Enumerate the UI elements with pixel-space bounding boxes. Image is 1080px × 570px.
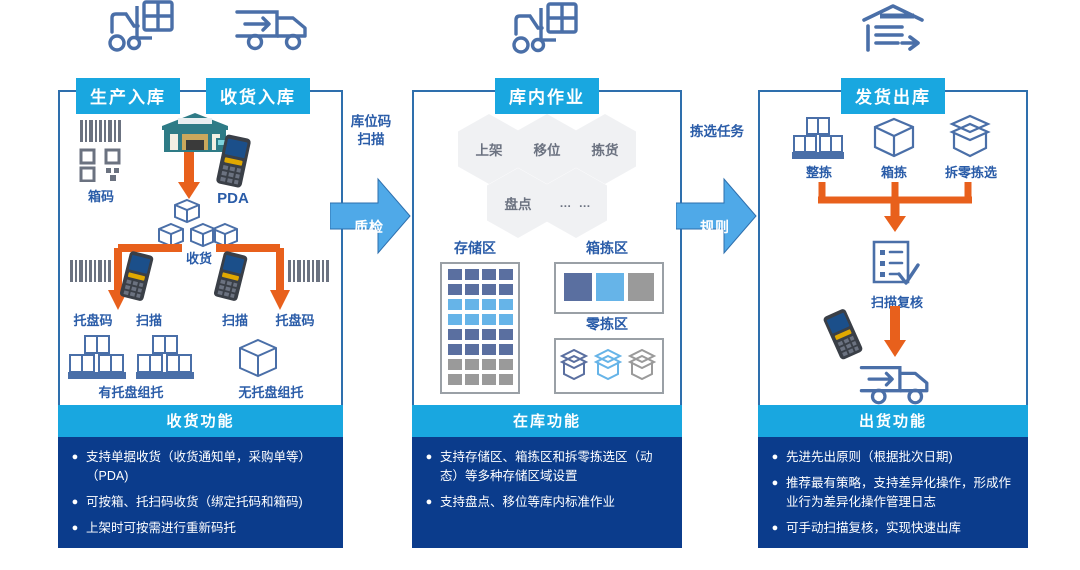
bullet-text: 先进先出原则（根据批次日期) <box>786 448 1020 467</box>
list-item: ● 支持盘点、移位等库内标准作业 <box>418 493 674 512</box>
piece-pick-icon <box>944 114 996 165</box>
inhouse-bullets: ● 支持存储区、箱拣区和拆零拣选区（动态）等多种存储区域设置 ● 支持盘点、移位… <box>412 437 682 548</box>
label-pallet-code-right: 托盘码 <box>264 310 326 329</box>
box-code-symbol <box>78 120 124 187</box>
tab-inhouse-operations[interactable]: 库内作业 <box>495 78 599 114</box>
pallet-stack-icon-1 <box>68 334 126 385</box>
connector-1-label: 库位码 扫描 <box>351 113 392 149</box>
delivery-truck-icon <box>233 2 315 59</box>
case-pick-icon <box>870 116 918 165</box>
inbound-footer-title: 收货功能 <box>58 405 343 437</box>
panel-outbound: 发货出库 <box>758 60 1028 547</box>
inhouse-content: 上架 移位 拣货 盘点 … … 存储区 箱拣区 零拣区 <box>412 90 682 405</box>
panel-inhouse: 库内作业 上架 移位 拣货 盘点 … … 存储区 箱拣区 零拣区 <box>412 60 682 547</box>
label-scan-left: 扫描 <box>124 310 174 329</box>
arrow-to-shipping <box>882 306 908 363</box>
inbound-bullets: ● 支持单据收货（收货通知单，采购单等）（PDA) ● 可按箱、托扫码收货（绑定… <box>58 437 343 548</box>
label-without-pallet: 无托盘组托 <box>216 382 326 401</box>
piece-pick-zone <box>554 338 664 394</box>
outbound-footer: 出货功能 ● 先进先出原则（根据批次日期) ● 推荐最有策略，支持差异化操作，形… <box>758 405 1028 547</box>
warehouse-out-icon <box>858 2 928 59</box>
connector-2-arrow-label: 规则 <box>700 217 730 237</box>
zone-title-piece-pick: 零拣区 <box>562 314 652 334</box>
label-pallet-code-left: 托盘码 <box>64 310 122 329</box>
outbound-bullets: ● 先进先出原则（根据批次日期) ● 推荐最有策略，支持差异化操作，形成作业行为… <box>758 437 1028 548</box>
bullet-icon: ● <box>418 448 440 467</box>
list-item: ● 上架时可按需进行重新码托 <box>64 519 335 538</box>
list-item: ● 可按箱、托扫码收货（绑定托码和箱码) <box>64 493 335 512</box>
case-pick-zone <box>554 262 664 314</box>
list-item: ● 推荐最有策略，支持差异化操作，形成作业行为差异化操作管理日志 <box>764 474 1020 512</box>
outbound-flow: 整拣 箱拣 拆零拣选 <box>758 90 1028 405</box>
label-box-code: 箱码 <box>70 186 132 205</box>
connector-2-label: 拣选任务 <box>690 123 744 141</box>
bullet-text: 上架时可按需进行重新码托 <box>86 519 335 538</box>
bullet-icon: ● <box>64 493 86 512</box>
pallet-barcode-right <box>286 260 332 291</box>
connector-1-line2: 扫描 <box>358 132 385 147</box>
pallet-barcode-left <box>68 260 114 291</box>
bullet-icon: ● <box>764 474 786 493</box>
bullet-icon: ● <box>64 448 86 467</box>
bullet-text: 支持单据收货（收货通知单，采购单等）（PDA) <box>86 448 335 486</box>
list-item: ● 可手动扫描复核，实现快速出库 <box>764 519 1020 538</box>
bullet-text: 可手动扫描复核，实现快速出库 <box>786 519 1020 538</box>
list-item: ● 支持单据收货（收货通知单，采购单等）（PDA) <box>64 448 335 486</box>
inhouse-footer: 在库功能 ● 支持存储区、箱拣区和拆零拣选区（动态）等多种存储区域设置 ● 支持… <box>412 405 682 547</box>
label-full-pallet-pick: 整拣 <box>786 162 852 181</box>
inhouse-footer-title: 在库功能 <box>412 405 682 437</box>
bullet-icon: ● <box>764 448 786 467</box>
tab-receiving-inbound[interactable]: 收货入库 <box>206 78 310 114</box>
storage-zone-grid <box>440 262 520 394</box>
connector-inhouse-to-outbound: 拣选任务 规则 <box>676 105 758 285</box>
scan-check-icon <box>868 238 920 295</box>
tab-shipping-outbound[interactable]: 发货出库 <box>841 78 945 114</box>
label-with-pallet: 有托盘组托 <box>66 382 196 401</box>
pallet-stack-icon-2 <box>136 334 194 385</box>
panel-inbound: 生产入库 收货入库 <box>58 60 343 547</box>
label-piece-pick: 拆零拣选 <box>934 162 1008 181</box>
bullet-icon: ● <box>64 519 86 538</box>
list-item: ● 先进先出原则（根据批次日期) <box>764 448 1020 467</box>
bullet-text: 支持盘点、移位等库内标准作业 <box>440 493 674 512</box>
merge-arrow <box>810 182 980 239</box>
label-case-pick: 箱拣 <box>862 162 926 181</box>
bullet-text: 可按箱、托扫码收货（绑定托码和箱码) <box>86 493 335 512</box>
connector-1-arrow-label: 质检 <box>354 217 384 237</box>
bullet-text: 推荐最有策略，支持差异化操作，形成作业行为差异化操作管理日志 <box>786 474 1020 512</box>
full-pallet-pick-icon <box>792 116 844 165</box>
single-box-icon <box>236 338 280 385</box>
label-scan-right: 扫描 <box>210 310 260 329</box>
forklift-icon <box>104 0 176 59</box>
connector-1-line1: 库位码 <box>351 114 392 129</box>
diagram-canvas: 生产入库 收货入库 <box>0 0 1080 570</box>
bullet-text: 支持存储区、箱拣区和拆零拣选区（动态）等多种存储区域设置 <box>440 448 674 486</box>
inbound-footer: 收货功能 ● 支持单据收货（收货通知单，采购单等）（PDA) ● 可按箱、托扫码… <box>58 405 343 547</box>
forklift-icon <box>508 0 580 61</box>
tab-production-inbound[interactable]: 生产入库 <box>76 78 180 114</box>
zone-title-storage: 存储区 <box>430 238 520 258</box>
inbound-tabs: 生产入库 收货入库 <box>58 78 343 112</box>
list-item: ● 支持存储区、箱拣区和拆零拣选区（动态）等多种存储区域设置 <box>418 448 674 486</box>
outbound-footer-title: 出货功能 <box>758 405 1028 437</box>
bullet-icon: ● <box>418 493 440 512</box>
zone-title-case-pick: 箱拣区 <box>562 238 652 258</box>
inbound-flow: 箱码 PDA <box>58 90 343 405</box>
connector-inbound-to-inhouse: 库位码 扫描 质检 <box>330 105 412 285</box>
bullet-icon: ● <box>764 519 786 538</box>
